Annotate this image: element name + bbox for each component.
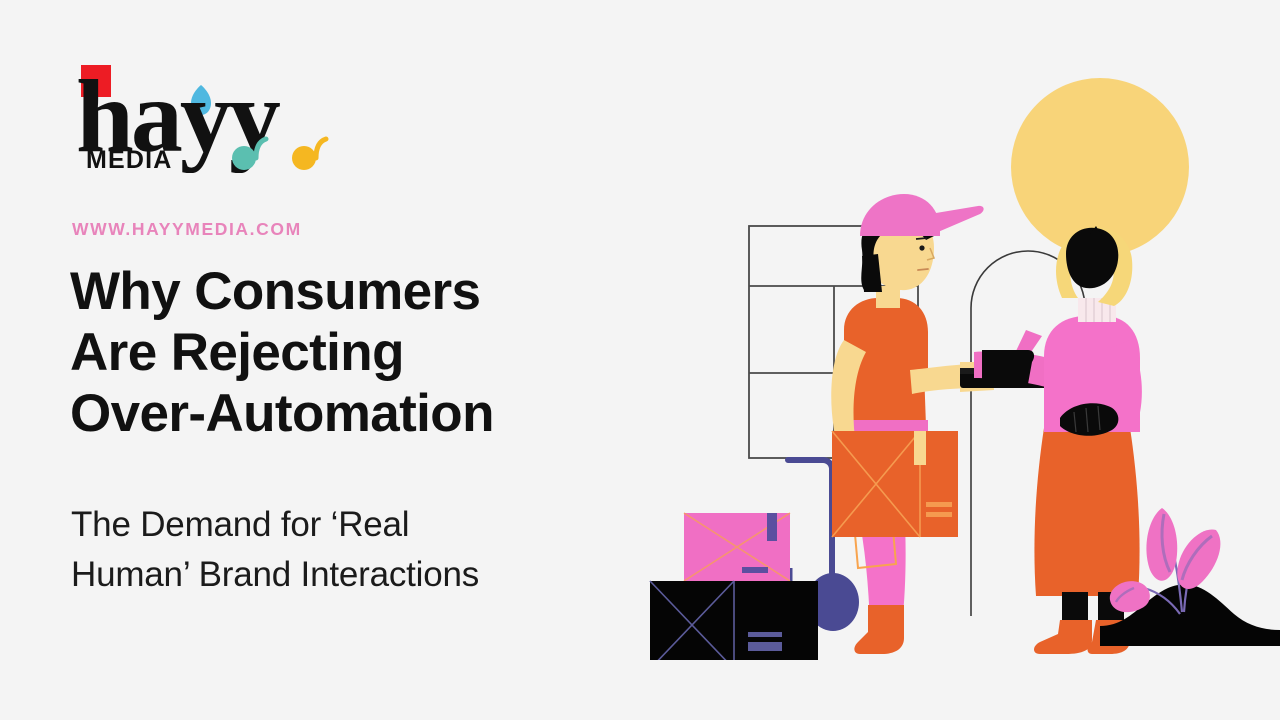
courier-eye — [919, 245, 924, 250]
headline-line-1: Why Consumers — [70, 262, 690, 323]
text-column: hayy MEDIA — [68, 55, 668, 170]
customer-skirt — [1034, 428, 1139, 596]
hayy-media-logo[interactable]: hayy MEDIA — [68, 55, 368, 170]
subtitle-line-2: Human’ Brand Interactions — [71, 550, 711, 600]
page-title: Why Consumers Are Rejecting Over-Automat… — [70, 262, 690, 445]
logo-subtext: MEDIA — [86, 146, 173, 173]
page-subtitle: The Demand for ‘Real Human’ Brand Intera… — [71, 500, 711, 599]
customer-hand-glove — [982, 350, 1034, 384]
subtitle-line-1: The Demand for ‘Real — [71, 500, 711, 550]
customer-face — [1066, 228, 1118, 288]
site-url-label[interactable]: WWW.HAYYMEDIA.COM — [72, 219, 302, 240]
cardboard-box-carried — [832, 431, 958, 537]
headline-line-3: Over-Automation — [70, 384, 690, 445]
customer-shoe-left — [1034, 620, 1092, 654]
logo-yellow-circle-accent — [292, 139, 326, 170]
leaf-right — [1177, 529, 1220, 589]
courier-figure — [831, 194, 994, 654]
courier-cap-brim — [930, 206, 984, 232]
courier-boot — [854, 605, 904, 654]
stacked-boxes — [650, 513, 818, 660]
headline-line-2: Are Rejecting — [70, 323, 690, 384]
blog-promo-card: hayy MEDIA WWW.HAYYMEDIA.COM Why Consume… — [0, 0, 1280, 720]
hero-illustration — [630, 40, 1280, 660]
courier-cap — [860, 194, 940, 236]
